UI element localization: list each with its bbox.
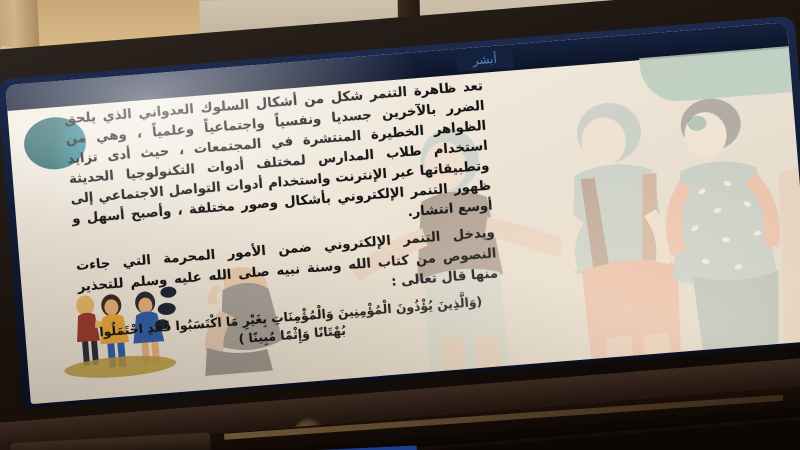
presentation-slide[interactable]: أبشر: [5, 22, 800, 404]
photo-scene: أبشر: [0, 0, 800, 450]
laptop: أبشر: [0, 0, 800, 450]
slide-body-text: تعد ظاهرة التنمر شكل من أشكال السلوك الع…: [63, 77, 502, 362]
